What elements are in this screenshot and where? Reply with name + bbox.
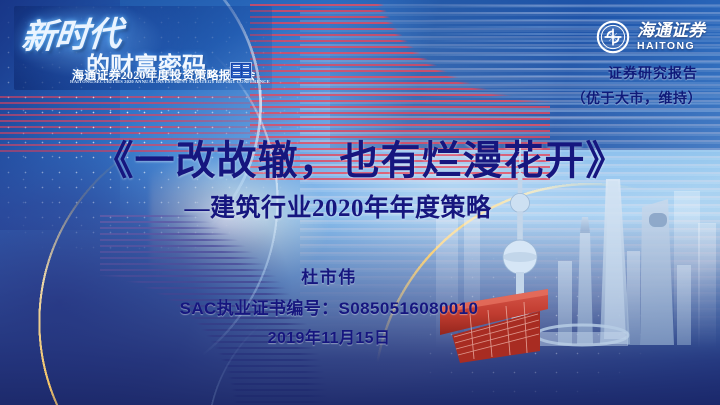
report-date: 2019年11月15日 (0, 324, 658, 348)
haitong-name-en: HAITONG (637, 41, 705, 52)
haitong-name-cn: 海通证券 (637, 22, 705, 39)
banner-seal-stamps (230, 62, 252, 79)
page-title: 《一改故辙，也有烂漫花开》 (0, 128, 720, 186)
author-sac-license: SAC执业证书编号：S0850516080010 (0, 294, 658, 319)
report-cover-slide: 新时代 的财富密码 海通证券2020年度投资策略报告会 HAITONG SECU… (0, 0, 720, 405)
banner-event-name-en: HAITONG SECURITIES 2020 ANNUAL INVESTMEN… (70, 79, 270, 84)
rating-label: （优于大市，维持） (572, 88, 703, 108)
seal-stamp (242, 64, 251, 70)
seal-stamp (232, 71, 241, 77)
report-type-label: 证券研究报告 (608, 63, 698, 83)
seal-stamp (242, 71, 251, 77)
haitong-logo-text: 海通证券 HAITONG (637, 22, 705, 52)
haitong-logo: 海通证券 HAITONG (596, 20, 705, 54)
author-block: 杜市伟 SAC执业证书编号：S0850516080010 2019年11月15日 (0, 263, 720, 348)
haitong-circular-emblem-icon (596, 20, 630, 54)
page-subtitle: —建筑行业2020年年度策略 (0, 188, 720, 224)
author-name: 杜市伟 (0, 263, 658, 288)
seal-stamp (232, 64, 241, 70)
conference-banner: 新时代 的财富密码 海通证券2020年度投资策略报告会 HAITONG SECU… (14, 6, 272, 90)
